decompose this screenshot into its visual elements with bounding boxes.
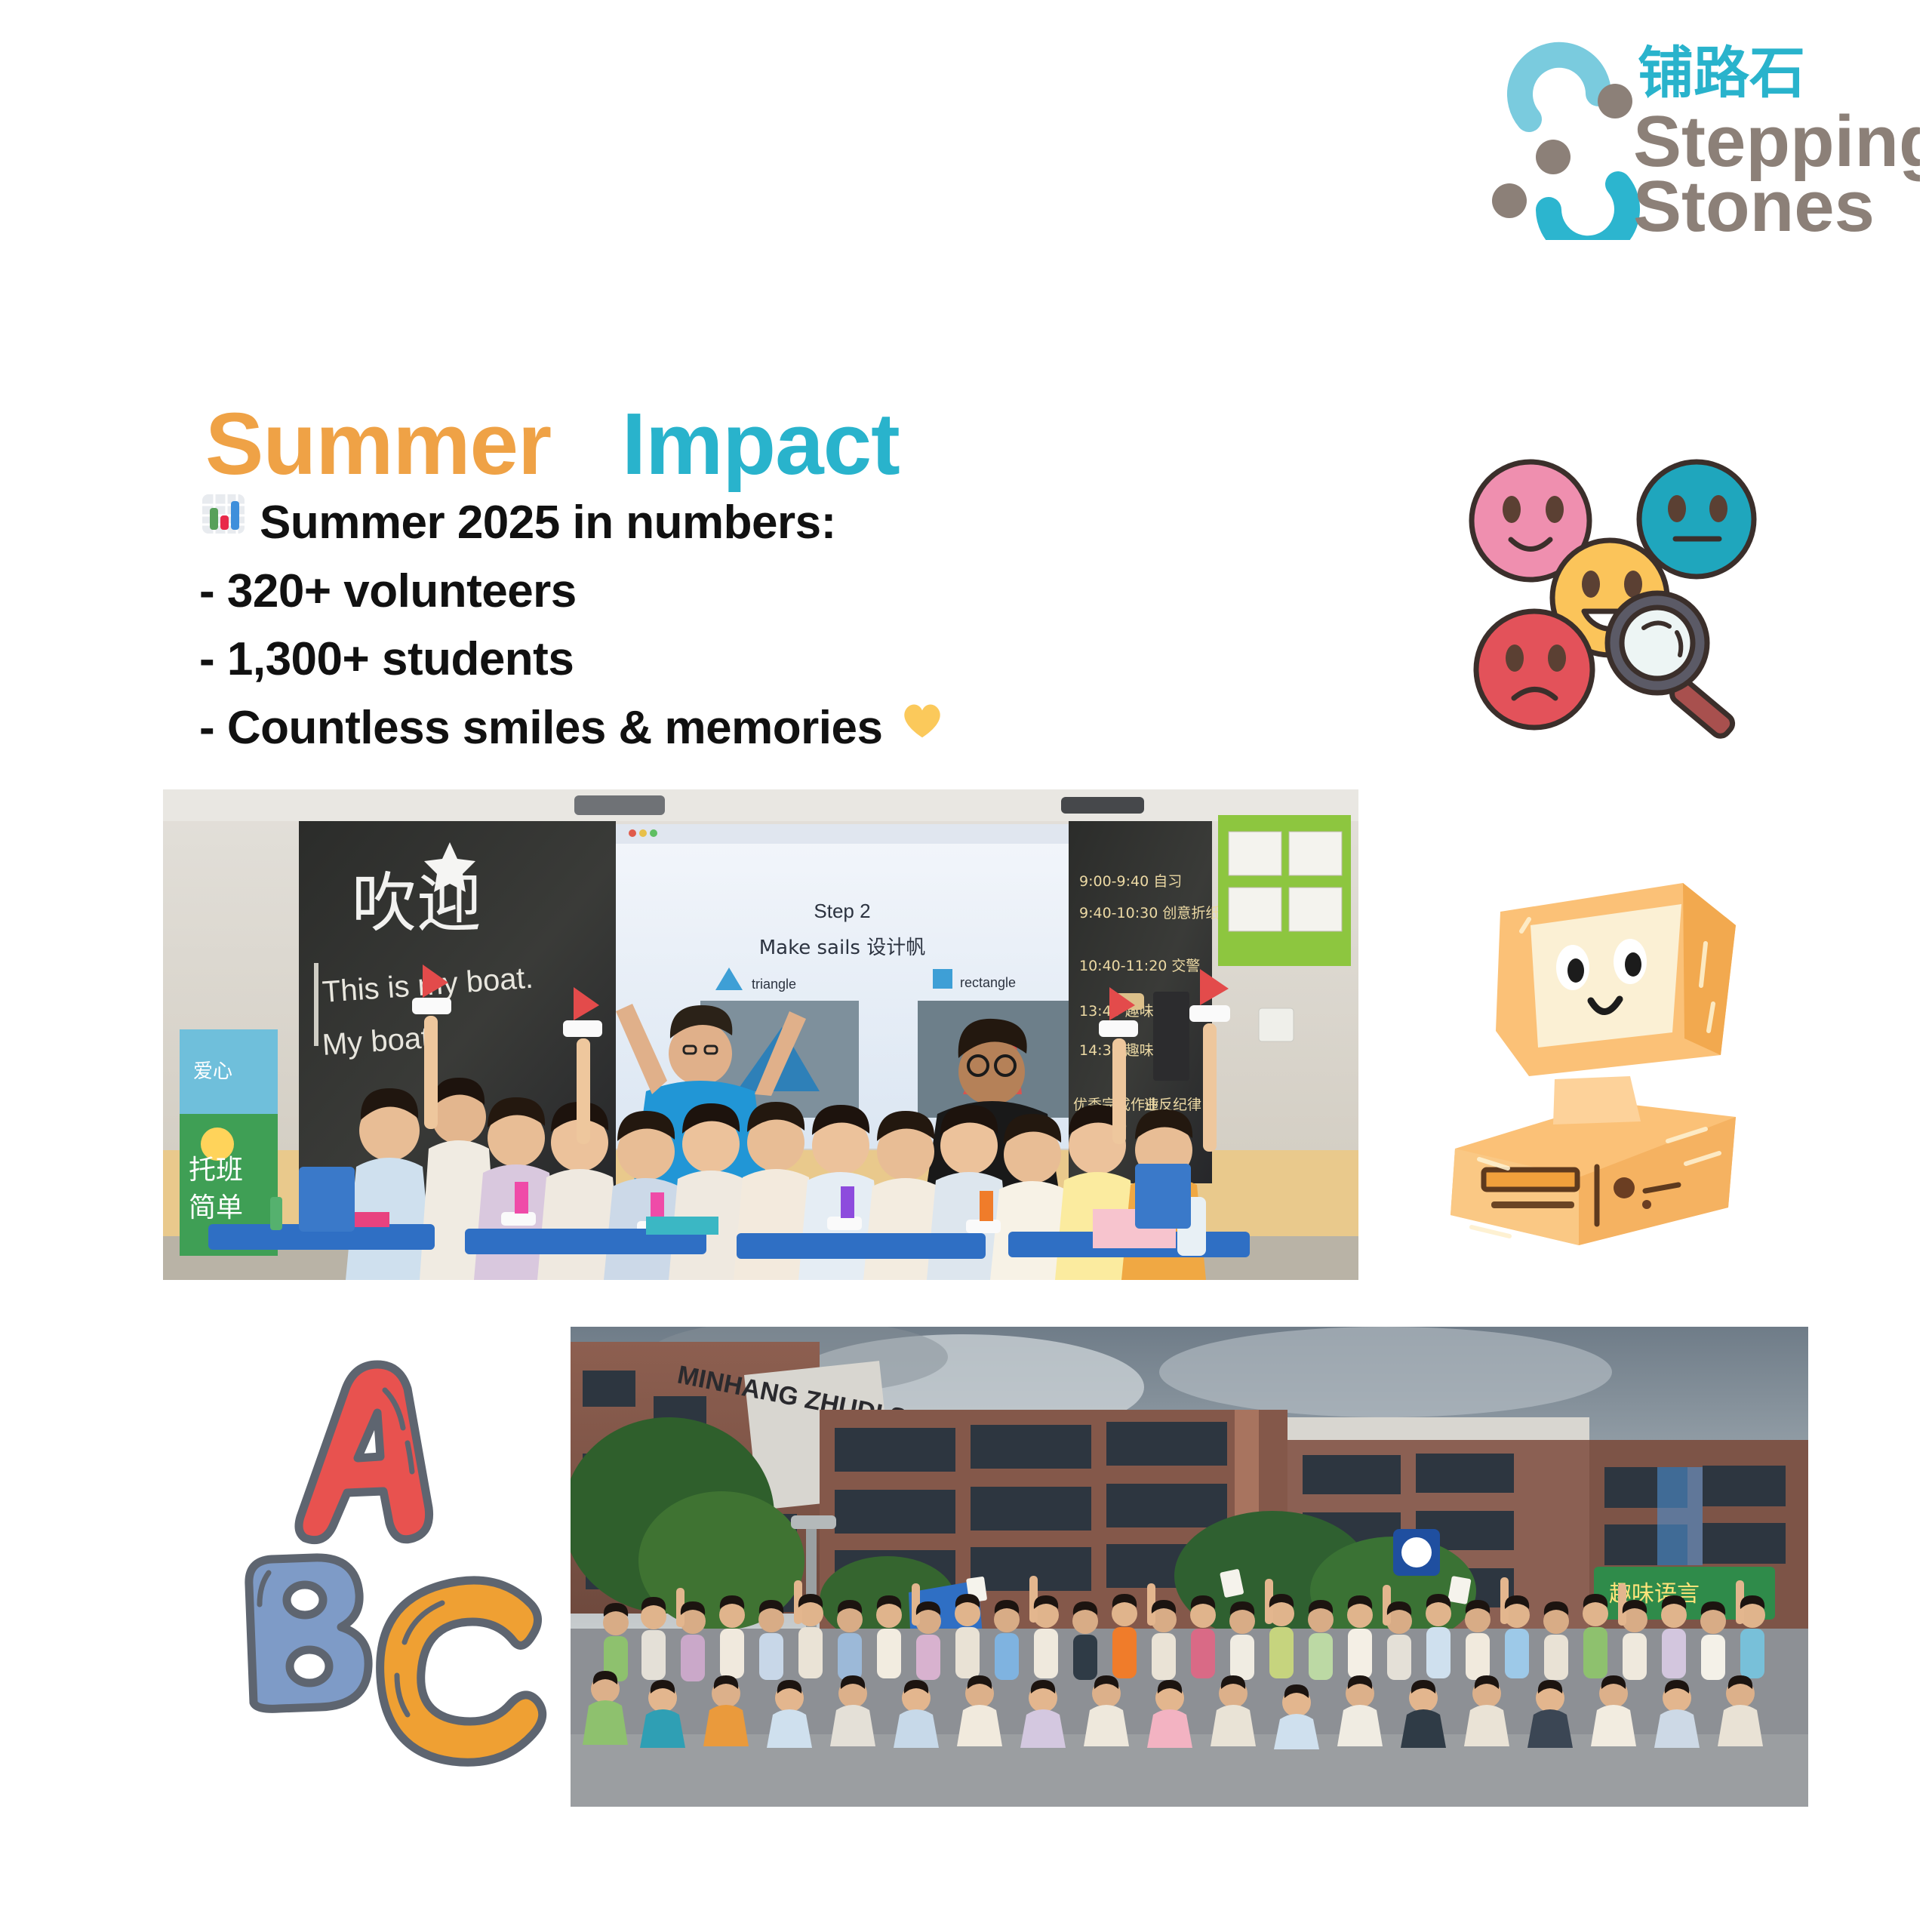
yellow-heart-emoji — [899, 694, 946, 763]
stat-volunteers-text: - 320+ volunteers — [199, 558, 577, 626]
group-photo: MINHANG ZHUDI SCHOOL — [571, 1327, 1808, 1807]
stat-smiles-text: - Countless smiles & memories — [199, 694, 882, 763]
title-part-impact: Impact — [622, 395, 900, 493]
brand-logo: 铺路石 Stepping Stones — [1485, 29, 1908, 240]
svg-text:9:00-9:40 自习: 9:00-9:40 自习 — [1079, 873, 1182, 890]
emoji-faces-magnifier-illustration — [1434, 438, 1781, 740]
brand-logo-text: 铺路石 Stepping Stones — [1633, 33, 1920, 245]
retro-computer-illustration — [1381, 853, 1774, 1260]
summary-stats-block: Summer 2025 in numbers: - 320+ volunteer… — [199, 489, 1256, 762]
svg-text:爱心: 爱心 — [193, 1060, 232, 1083]
abc-letters-illustration — [226, 1343, 551, 1781]
stat-line-students: - 1,300+ students — [199, 626, 1256, 694]
svg-text:9:40-10:30 创意折纸: 9:40-10:30 创意折纸 — [1079, 905, 1220, 921]
logo-line2-text: Stones — [1633, 166, 1875, 245]
screen-label-triangle: triangle — [752, 977, 796, 992]
stat-line-smiles: - Countless smiles & memories — [199, 694, 1256, 763]
screen-step-text: Step 2 — [814, 900, 870, 922]
svg-text:10:40-11:20 交警: 10:40-11:20 交警 — [1079, 958, 1200, 974]
bar-chart-emoji — [199, 489, 248, 558]
letter-b-shape — [249, 1558, 368, 1709]
svg-text:托班: 托班 — [189, 1155, 243, 1186]
stat-students-text: - 1,300+ students — [199, 626, 574, 694]
stats-heading-line: Summer 2025 in numbers: — [199, 489, 1256, 558]
svg-text:简单: 简单 — [189, 1192, 243, 1223]
page-title: Summer Impact — [205, 400, 900, 488]
screen-instruction-text: Make sails 设计帆 — [759, 937, 926, 959]
stat-line-volunteers: - 320+ volunteers — [199, 558, 1256, 626]
letter-c-shape — [380, 1580, 543, 1762]
stats-heading-text: Summer 2025 in numbers: — [260, 489, 836, 558]
letter-a-shape — [299, 1364, 429, 1540]
logo-chinese-text: 铺路石 — [1638, 41, 1805, 106]
classroom-photo: 爱心 托班 简单 吹迎 This is my boat. My boat Ste… — [163, 789, 1358, 1280]
title-part-summer: Summer — [205, 395, 551, 493]
screen-label-rectangle: rectangle — [960, 975, 1016, 990]
